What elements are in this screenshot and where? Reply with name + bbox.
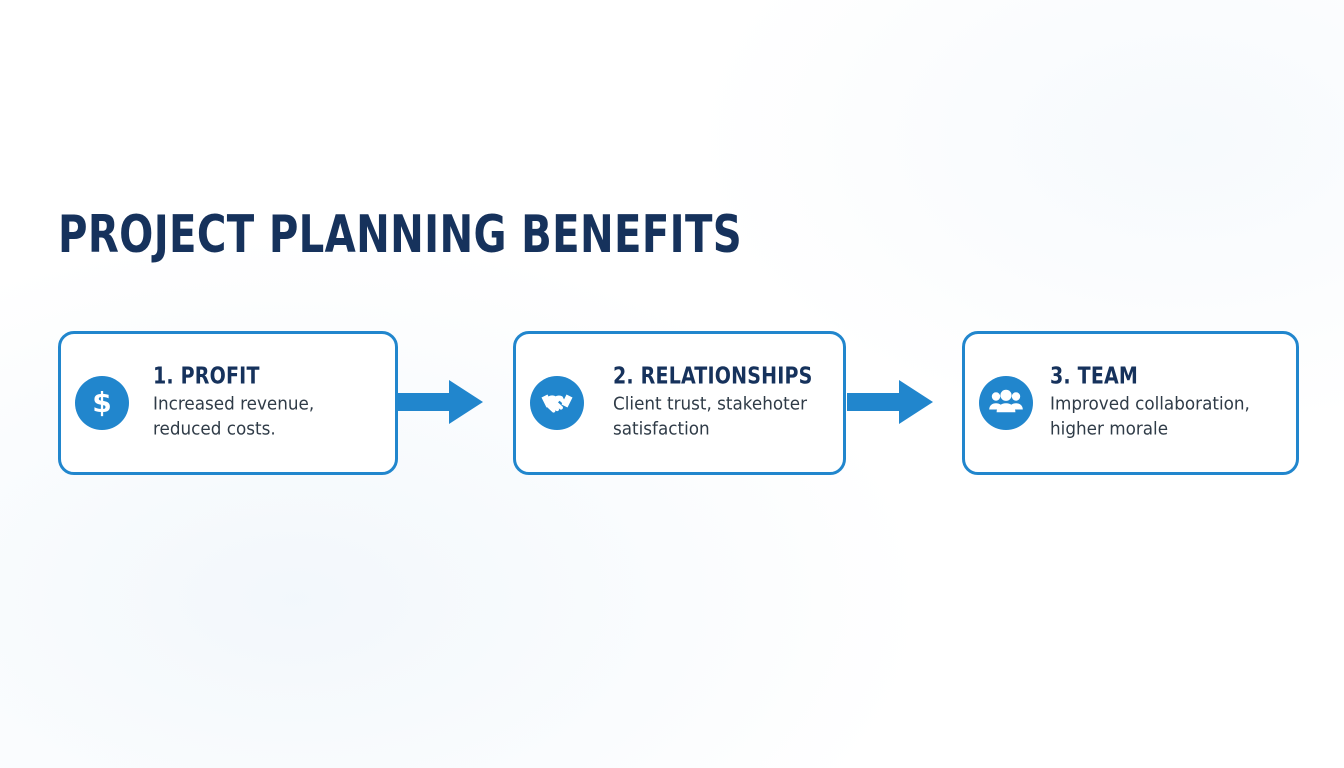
card-text-block: 1. PROFIT Increased revenue, reduced cos… <box>153 364 385 443</box>
slide-canvas: PROJECT PLANNING BENEFITS $ 1. PROFIT In… <box>0 0 1344 768</box>
card-body: Improved collaboration, higher morale <box>1050 393 1277 443</box>
svg-text:$: $ <box>92 386 111 419</box>
card-text-block: 2. RELATIONSHIPS Client trust, stakehote… <box>613 364 833 443</box>
arrow-right-icon <box>847 378 933 426</box>
card-body: Increased revenue, reduced costs. <box>153 393 376 443</box>
handshake-icon <box>530 376 584 430</box>
arrow-right-icon <box>397 378 483 426</box>
team-people-icon <box>979 376 1033 430</box>
benefit-card-team[interactable]: 3. TEAM Improved collaboration, higher m… <box>962 331 1299 475</box>
page-title: PROJECT PLANNING BENEFITS <box>58 206 742 264</box>
card-heading: 3. TEAM <box>1050 364 1267 390</box>
benefit-card-profit[interactable]: $ 1. PROFIT Increased revenue, reduced c… <box>58 331 398 475</box>
card-body: Client trust, stakehoter satisfaction <box>613 393 824 443</box>
benefit-card-relationships[interactable]: 2. RELATIONSHIPS Client trust, stakehote… <box>513 331 846 475</box>
card-heading: 2. RELATIONSHIPS <box>613 364 815 390</box>
card-heading: 1. PROFIT <box>153 364 366 390</box>
card-text-block: 3. TEAM Improved collaboration, higher m… <box>1050 364 1286 443</box>
dollar-sign-icon: $ <box>75 376 129 430</box>
